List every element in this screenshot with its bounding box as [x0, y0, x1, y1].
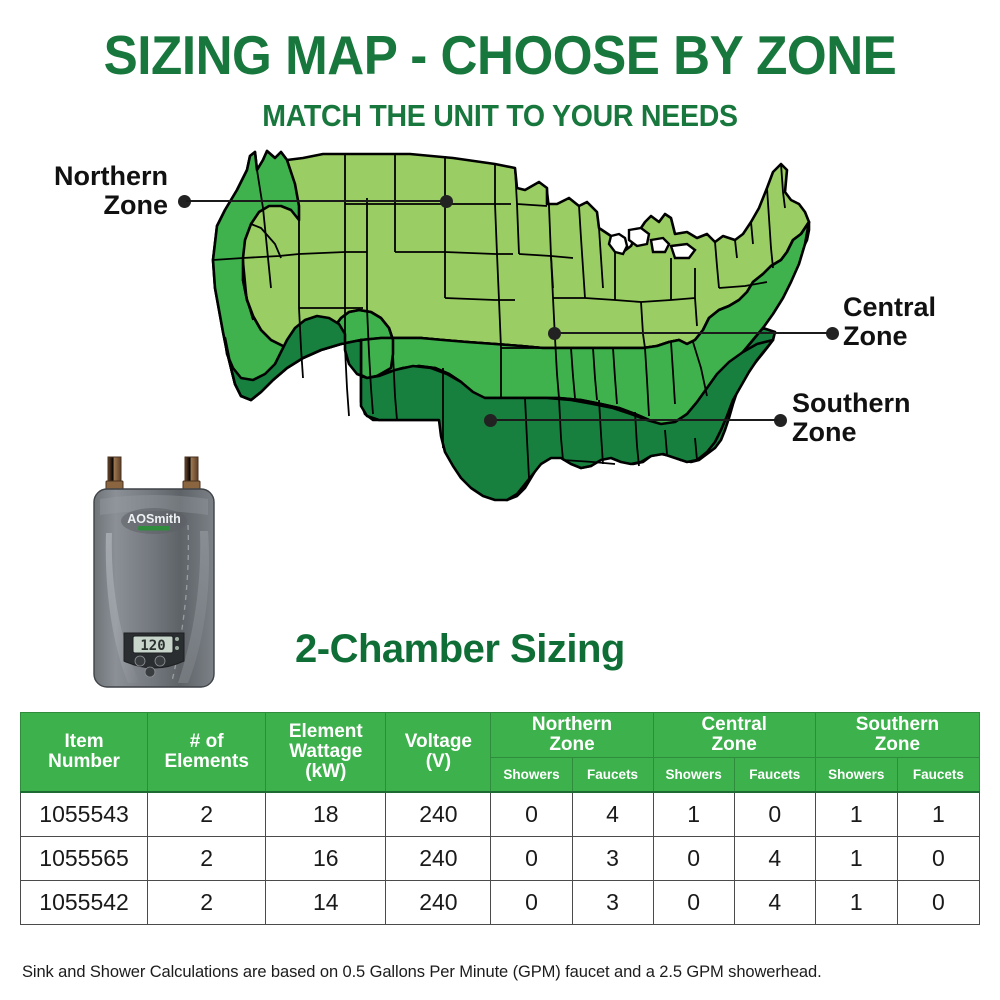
callout-central-line1: Central — [843, 293, 993, 322]
th-item-number: Item Number — [21, 713, 148, 793]
callout-central-dot-map — [548, 327, 561, 340]
th-element-wattage: Element Wattage (kW) — [266, 713, 386, 793]
brand-logo-aosmith: AOSmith — [121, 508, 187, 534]
table-body: 1055543 2 18 240 0 4 1 0 1 1 1055565 2 1… — [21, 792, 980, 925]
cell-southern-showers: 1 — [815, 792, 897, 837]
svg-text:AOSmith: AOSmith — [127, 512, 180, 526]
table-row: 1055542 2 14 240 0 3 0 4 1 0 — [21, 881, 980, 925]
product-image-water-heater: AOSmith 120 — [88, 455, 228, 705]
cell-num-elements: 2 — [148, 792, 266, 837]
temperature-display: 120 — [140, 638, 165, 654]
callout-central-leader — [550, 332, 828, 334]
cell-northern-faucets: 4 — [572, 792, 653, 837]
page-title: SIZING MAP - CHOOSE BY ZONE — [35, 28, 965, 83]
cell-southern-faucets: 0 — [897, 837, 979, 881]
cell-element-wattage: 14 — [266, 881, 386, 925]
callout-southern-leader — [488, 419, 778, 421]
cell-item-number: 1055543 — [21, 792, 148, 837]
cell-voltage: 240 — [386, 837, 491, 881]
callout-central-zone: Central Zone — [843, 293, 993, 351]
cell-central-faucets: 4 — [734, 837, 815, 881]
th-northern-zone: Northern Zone — [491, 713, 653, 758]
cell-num-elements: 2 — [148, 837, 266, 881]
callout-northern-dot-map — [440, 195, 453, 208]
callout-northern-line1: Northern — [28, 162, 168, 191]
cell-southern-showers: 1 — [815, 881, 897, 925]
callout-southern-line1: Southern — [792, 389, 962, 418]
page-subtitle: MATCH THE UNIT TO YOUR NEEDS — [40, 100, 960, 131]
callout-southern-line2: Zone — [792, 418, 962, 447]
callout-central-line2: Zone — [843, 322, 993, 351]
sizing-table: Item Number # of Elements Element Wattag… — [20, 712, 980, 925]
inlet-outlet-pipes — [106, 457, 200, 492]
table-row: 1055543 2 18 240 0 4 1 0 1 1 — [21, 792, 980, 837]
cell-central-showers: 1 — [653, 792, 734, 837]
cell-southern-faucets: 1 — [897, 792, 979, 837]
table-footnote: Sink and Shower Calculations are based o… — [22, 963, 822, 982]
th-southern-zone: Southern Zone — [815, 713, 979, 758]
cell-central-faucets: 0 — [734, 792, 815, 837]
table-row: 1055565 2 16 240 0 3 0 4 1 0 — [21, 837, 980, 881]
th-northern-faucets: Faucets — [572, 758, 653, 793]
callout-southern-zone: Southern Zone — [792, 389, 962, 447]
cell-element-wattage: 18 — [266, 792, 386, 837]
cell-northern-showers: 0 — [491, 792, 572, 837]
up-arrow-button — [135, 656, 145, 666]
cell-central-showers: 0 — [653, 837, 734, 881]
callout-northern-line2: Zone — [28, 191, 168, 220]
section-heading-2-chamber-sizing: 2-Chamber Sizing — [295, 627, 625, 672]
th-southern-showers: Showers — [815, 758, 897, 793]
down-arrow-button — [155, 656, 165, 666]
cell-central-showers: 0 — [653, 881, 734, 925]
callout-northern-leader — [186, 200, 446, 202]
th-central-showers: Showers — [653, 758, 734, 793]
cell-voltage: 240 — [386, 881, 491, 925]
cell-northern-faucets: 3 — [572, 837, 653, 881]
cell-item-number: 1055565 — [21, 837, 148, 881]
th-northern-showers: Showers — [491, 758, 572, 793]
cell-element-wattage: 16 — [266, 837, 386, 881]
th-num-elements: # of Elements — [148, 713, 266, 793]
sizing-map-infographic: SIZING MAP - CHOOSE BY ZONE MATCH THE UN… — [0, 0, 1000, 1000]
cell-southern-showers: 1 — [815, 837, 897, 881]
callout-northern-zone: Northern Zone — [28, 162, 168, 220]
table-header-row-main: Item Number # of Elements Element Wattag… — [21, 713, 980, 758]
cell-southern-faucets: 0 — [897, 881, 979, 925]
cell-northern-faucets: 3 — [572, 881, 653, 925]
cell-item-number: 1055542 — [21, 881, 148, 925]
th-voltage: Voltage (V) — [386, 713, 491, 793]
cell-num-elements: 2 — [148, 881, 266, 925]
callout-southern-dot-map — [484, 414, 497, 427]
cell-voltage: 240 — [386, 792, 491, 837]
th-central-faucets: Faucets — [734, 758, 815, 793]
cell-northern-showers: 0 — [491, 881, 572, 925]
th-central-zone: Central Zone — [653, 713, 815, 758]
cell-central-faucets: 4 — [734, 881, 815, 925]
power-button — [145, 667, 155, 677]
th-southern-faucets: Faucets — [897, 758, 979, 793]
cell-northern-showers: 0 — [491, 837, 572, 881]
zone-map — [195, 148, 815, 508]
